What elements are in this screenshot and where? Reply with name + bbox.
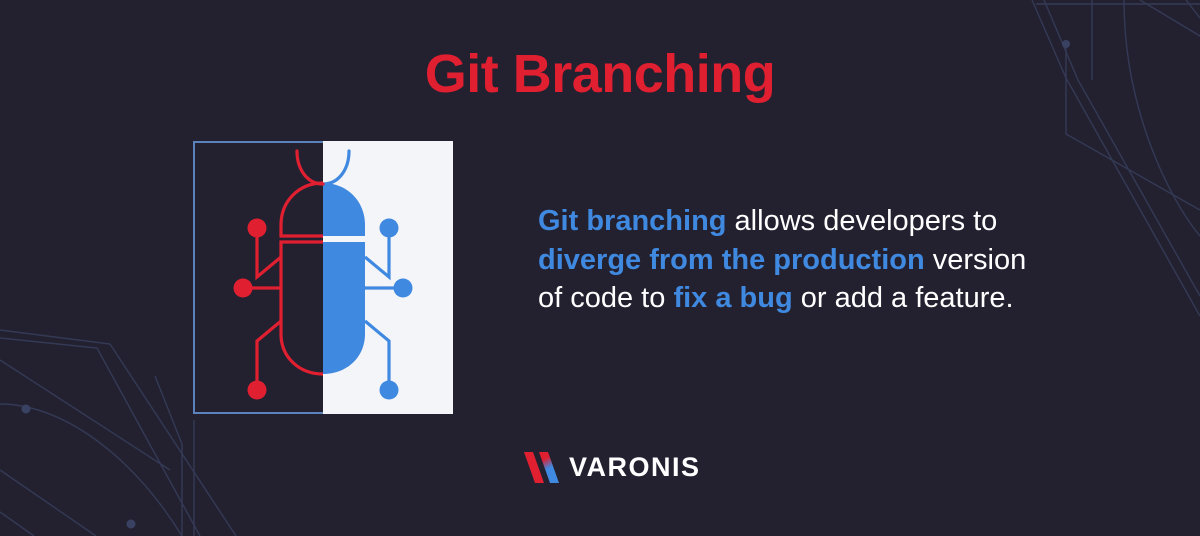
body-highlight: Git branching	[538, 205, 727, 237]
page-title: Git Branching	[0, 46, 1200, 103]
varonis-double-slash-mark	[524, 452, 560, 483]
bug-right-half	[323, 151, 413, 400]
bug-left-half	[234, 151, 324, 400]
varonis-wordmark: VARONIS	[569, 452, 701, 483]
body-highlight: fix a bug	[673, 282, 792, 314]
split-bug-illustration	[193, 141, 453, 414]
body-highlight: diverge from the production	[538, 244, 925, 276]
slide-canvas: Git Branching	[0, 0, 1200, 536]
body-text: or add a feature.	[793, 282, 1014, 314]
body-text: allows developers to	[727, 205, 998, 237]
bug-circuit-graphic	[193, 141, 453, 414]
varonis-logo[interactable]: VARONIS	[524, 448, 701, 486]
body-paragraph: Git branching allows developers to diver…	[538, 202, 1030, 318]
